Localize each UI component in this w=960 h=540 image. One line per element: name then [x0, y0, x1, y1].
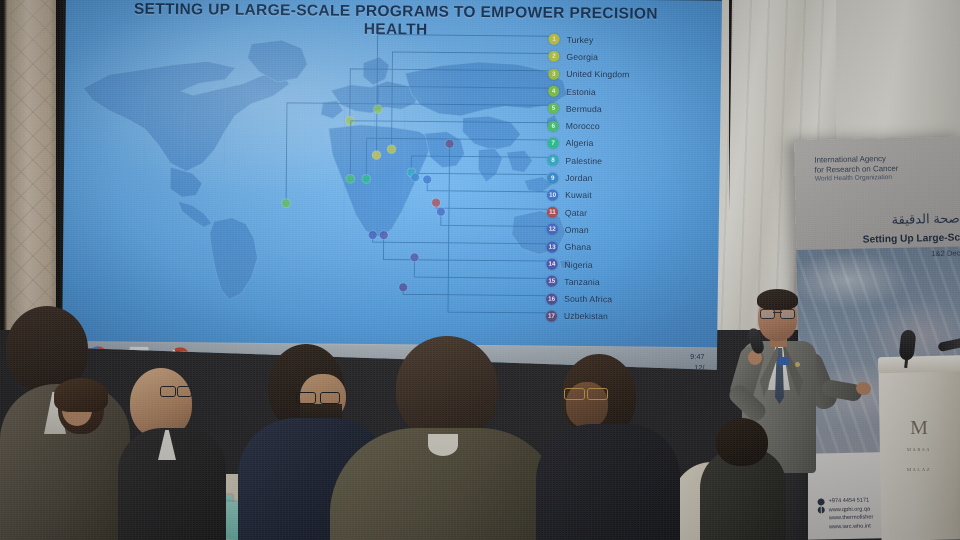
country-label: Ghana [565, 242, 592, 252]
country-number-badge: 15 [546, 276, 557, 287]
iarc-who-logo: International Agency for Research on Can… [814, 153, 945, 184]
who-line: World Health Organization [815, 172, 945, 184]
legend-row-nigeria: 14Nigeria [546, 256, 696, 275]
country-label: Bermuda [566, 104, 602, 114]
country-number-badge: 7 [548, 138, 559, 149]
country-number-badge: 5 [548, 103, 559, 114]
legend-row-palestine: 8Palestine [547, 152, 697, 171]
banner-arabic-title: صحة الدقيقة [800, 211, 960, 230]
legend-row-estonia: 4Estonia [548, 83, 698, 102]
legend-row-south-africa: 16South Africa [546, 290, 696, 309]
clock-time: 9:47 [690, 352, 704, 363]
country-number-badge: 4 [548, 86, 559, 97]
legend-row-morocco: 6Morocco [548, 117, 698, 136]
country-label: Oman [565, 225, 589, 235]
audience-head [716, 418, 768, 466]
country-legend-list: 1Turkey2Georgia3United Kingdom4Estonia5B… [546, 31, 699, 326]
podium-logo-sub: MARSA MALAZ [902, 440, 936, 480]
audience-eyeglasses [296, 392, 340, 402]
country-number-badge: 12 [547, 224, 558, 235]
presentation-slide: SETTING UP LARGE-SCALE PROGRAMS TO EMPOW… [58, 0, 722, 382]
country-label: Qatar [565, 207, 587, 217]
country-number-badge: 2 [548, 51, 559, 62]
legend-row-united-kingdom: 3United Kingdom [548, 65, 698, 84]
country-number-badge: 14 [546, 259, 557, 270]
country-number-badge: 3 [548, 68, 559, 79]
legend-row-uzbekistan: 17Uzbekistan [546, 307, 696, 326]
conference-room-photo: SETTING UP LARGE-SCALE PROGRAMS TO EMPOW… [0, 0, 960, 540]
country-label: Palestine [565, 156, 602, 166]
decorative-wall-panel [0, 0, 62, 330]
country-label: Georgia [566, 52, 598, 62]
country-label: Algeria [566, 138, 594, 148]
speaker-eyeglasses [760, 309, 795, 317]
legend-row-algeria: 7Algeria [548, 134, 698, 153]
country-number-badge: 9 [547, 172, 558, 183]
country-number-badge: 17 [546, 311, 557, 322]
podium-logo: M MARSA MALAZ [902, 418, 936, 480]
legend-row-qatar: 11Qatar [547, 204, 697, 223]
podium-top-surface [878, 355, 960, 373]
world-map [73, 30, 576, 305]
audience-collar [428, 434, 458, 456]
country-label: Kuwait [565, 190, 592, 200]
speaker-name-badge [778, 357, 789, 365]
country-label: Turkey [567, 34, 594, 44]
audience-shoulders [536, 424, 680, 540]
podium-logo-mark: M [910, 417, 928, 439]
country-label: South Africa [564, 294, 612, 304]
legend-row-georgia: 2Georgia [548, 48, 698, 67]
country-number-badge: 1 [549, 34, 560, 45]
world-map-svg [73, 30, 576, 305]
country-label: Uzbekistan [564, 311, 608, 321]
country-label: Estonia [566, 86, 596, 96]
projection-screen: SETTING UP LARGE-SCALE PROGRAMS TO EMPOW… [62, 0, 722, 376]
country-number-badge: 8 [547, 155, 558, 166]
legend-row-jordan: 9Jordan [547, 169, 697, 188]
country-label: Jordan [565, 173, 592, 183]
country-number-badge: 11 [547, 207, 558, 218]
legend-row-tanzania: 15Tanzania [546, 273, 696, 292]
banner-event-title: Setting Up Large-Sc [798, 233, 960, 247]
speaker-hair [757, 289, 798, 310]
country-label: Morocco [566, 121, 600, 131]
legend-row-turkey: 1Turkey [549, 31, 699, 50]
country-label: Nigeria [564, 259, 592, 269]
country-label: Tanzania [564, 277, 600, 287]
phone-icon [818, 499, 825, 506]
country-number-badge: 10 [547, 189, 558, 200]
legend-row-bermuda: 5Bermuda [548, 100, 698, 119]
audience-hair [54, 378, 108, 412]
globe-icon [818, 507, 825, 514]
audience-head [396, 336, 498, 440]
legend-row-ghana: 13Ghana [547, 238, 697, 257]
speaker-lapel-pin [795, 362, 800, 367]
legend-row-oman: 12Oman [547, 221, 697, 240]
audience-eyeglasses [160, 386, 192, 395]
legend-row-kuwait: 10Kuwait [547, 186, 697, 205]
country-label: United Kingdom [566, 69, 629, 80]
country-number-badge: 13 [547, 241, 558, 252]
audience-eyeglasses [564, 388, 608, 398]
country-number-badge: 6 [548, 120, 559, 131]
country-number-badge: 16 [546, 293, 557, 304]
